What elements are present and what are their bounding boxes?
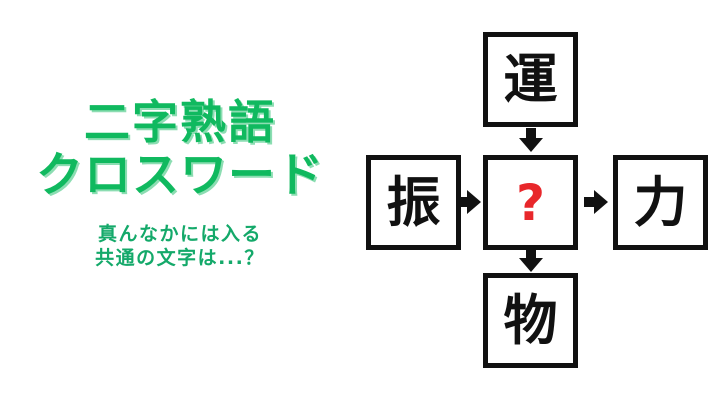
- puzzle-cell-left: 振: [366, 155, 461, 250]
- subtitle-line-1: 真んなかには入る: [0, 222, 360, 246]
- puzzle-cell-left-kanji: 振: [387, 176, 441, 230]
- page-title-line-2: クロスワード: [0, 149, 360, 202]
- poster-canvas: 二字熟語 クロスワード 真んなかには入る 共通の文字は...？ 運 振 ?: [0, 0, 720, 405]
- puzzle-cell-right-kanji: 力: [634, 176, 688, 230]
- puzzle-cell-right: 力: [613, 155, 708, 250]
- puzzle-cell-bottom-kanji: 物: [504, 294, 558, 348]
- arrow-head: [467, 190, 481, 214]
- page-title-line-1: 二字熟語: [0, 96, 360, 149]
- subtitle: 真んなかには入る 共通の文字は...？: [0, 222, 360, 270]
- arrow-down-icon-center: [519, 248, 543, 272]
- puzzle-cell-bottom: 物: [483, 273, 578, 368]
- text-panel: 二字熟語 クロスワード 真んなかには入る 共通の文字は...？: [0, 96, 360, 270]
- puzzle-cell-top-kanji: 運: [504, 53, 558, 107]
- subtitle-line-2: 共通の文字は...？: [0, 246, 360, 270]
- kanji-cross-puzzle: 運 振 ? 力 物: [360, 0, 720, 405]
- question-mark-icon: ?: [516, 178, 545, 228]
- puzzle-cell-center-answer[interactable]: ?: [483, 155, 578, 250]
- arrow-head: [519, 258, 543, 272]
- arrow-right-icon-left: [457, 190, 481, 214]
- puzzle-cell-top: 運: [483, 32, 578, 127]
- arrow-down-icon-top: [519, 128, 543, 152]
- arrow-right-icon-center: [584, 190, 608, 214]
- arrow-head: [594, 190, 608, 214]
- arrow-head: [519, 138, 543, 152]
